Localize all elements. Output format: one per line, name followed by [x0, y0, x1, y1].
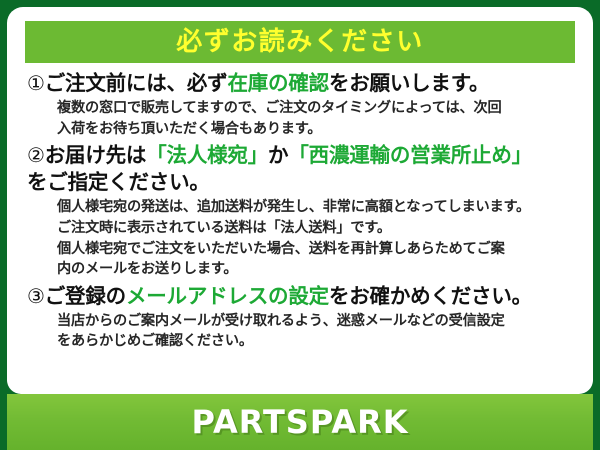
- item-3-text-after: をお確かめください。: [329, 284, 532, 308]
- notice-item-2-subtext: 個人様宅宛の発送は、追加送料が発生し、非常に高額となってしまいます。 ご注文時に…: [27, 197, 579, 279]
- notice-item-3: ③ご登録のメールアドレスの設定をお確かめください。 当店からのご案内メールが受け…: [27, 283, 579, 352]
- item-2-text-before: お届け先は: [45, 143, 147, 167]
- item-2-sub-line-3: 個人様宅宛でご注文をいただいた場合、送料を再計算しあらためてご案: [57, 239, 579, 260]
- item-1-text-after: をお願いします。: [329, 71, 489, 95]
- item-2-sub-line-2: ご注文時に表示されている送料は「法人送料」です。: [57, 218, 579, 239]
- footer-bar: PARTSPARK: [7, 394, 593, 450]
- notice-item-2: ②お届け先は「法人様宛」か「西濃運輸の営業所止め」 をご指定ください。 個人様宅…: [27, 142, 579, 279]
- item-3-sub-line-2: をあらかじめご確認ください。: [57, 331, 579, 352]
- notice-item-1-subtext: 複数の窓口で販売してますので、ご注文のタイミングによっては、次回 入荷をお待ち頂…: [27, 98, 579, 139]
- item-marker-3: ③: [27, 284, 45, 308]
- item-1-sub-line-2: 入荷をお待ち頂いただく場合もあります。: [57, 119, 579, 140]
- notice-item-2-heading-line2: をご指定ください。: [27, 169, 579, 196]
- item-2-sub-line-4: 内のメールをお送りします。: [57, 259, 579, 280]
- notice-item-1: ①ご注文前には、必ず在庫の確認をお願いします。 複数の窓口で販売してますので、ご…: [27, 70, 579, 139]
- item-3-sub-line-1: 当店からのご案内メールが受け取れるよう、迷惑メールなどの受信設定: [57, 311, 579, 332]
- item-2-highlight-2: 「西濃運輸の営業所止め」: [288, 143, 532, 167]
- header-bar: 必ずお読みください: [25, 21, 575, 63]
- notice-panel: 必ずお読みください ①ご注文前には、必ず在庫の確認をお願いします。 複数の窓口で…: [7, 7, 593, 394]
- item-2-text-middle: か: [268, 143, 288, 167]
- item-marker-2: ②: [27, 143, 45, 167]
- notice-item-2-heading: ②お届け先は「法人様宛」か「西濃運輸の営業所止め」: [27, 142, 579, 169]
- item-2-highlight-1: 「法人様宛」: [146, 143, 268, 167]
- brand-logo: PARTSPARK: [191, 406, 408, 438]
- notice-card: 必ずお読みください ①ご注文前には、必ず在庫の確認をお願いします。 複数の窓口で…: [0, 0, 600, 450]
- item-2-sub-line-1: 個人様宅宛の発送は、追加送料が発生し、非常に高額となってしまいます。: [57, 197, 579, 218]
- notice-item-3-heading: ③ご登録のメールアドレスの設定をお確かめください。: [27, 283, 579, 310]
- item-1-text-before: ご注文前には、必ず: [45, 71, 228, 95]
- item-marker-1: ①: [27, 71, 45, 95]
- item-1-highlight: 在庫の確認: [227, 71, 329, 95]
- item-3-text-before: ご登録の: [45, 284, 126, 308]
- page-title: 必ずお読みください: [176, 29, 424, 55]
- notice-body: ①ご注文前には、必ず在庫の確認をお願いします。 複数の窓口で販売してますので、ご…: [17, 63, 583, 394]
- notice-item-3-subtext: 当店からのご案内メールが受け取れるよう、迷惑メールなどの受信設定 をあらかじめご…: [27, 311, 579, 352]
- item-3-highlight: メールアドレスの設定: [126, 284, 329, 308]
- item-1-sub-line-1: 複数の窓口で販売してますので、ご注文のタイミングによっては、次回: [57, 98, 579, 119]
- notice-item-1-heading: ①ご注文前には、必ず在庫の確認をお願いします。: [27, 70, 579, 97]
